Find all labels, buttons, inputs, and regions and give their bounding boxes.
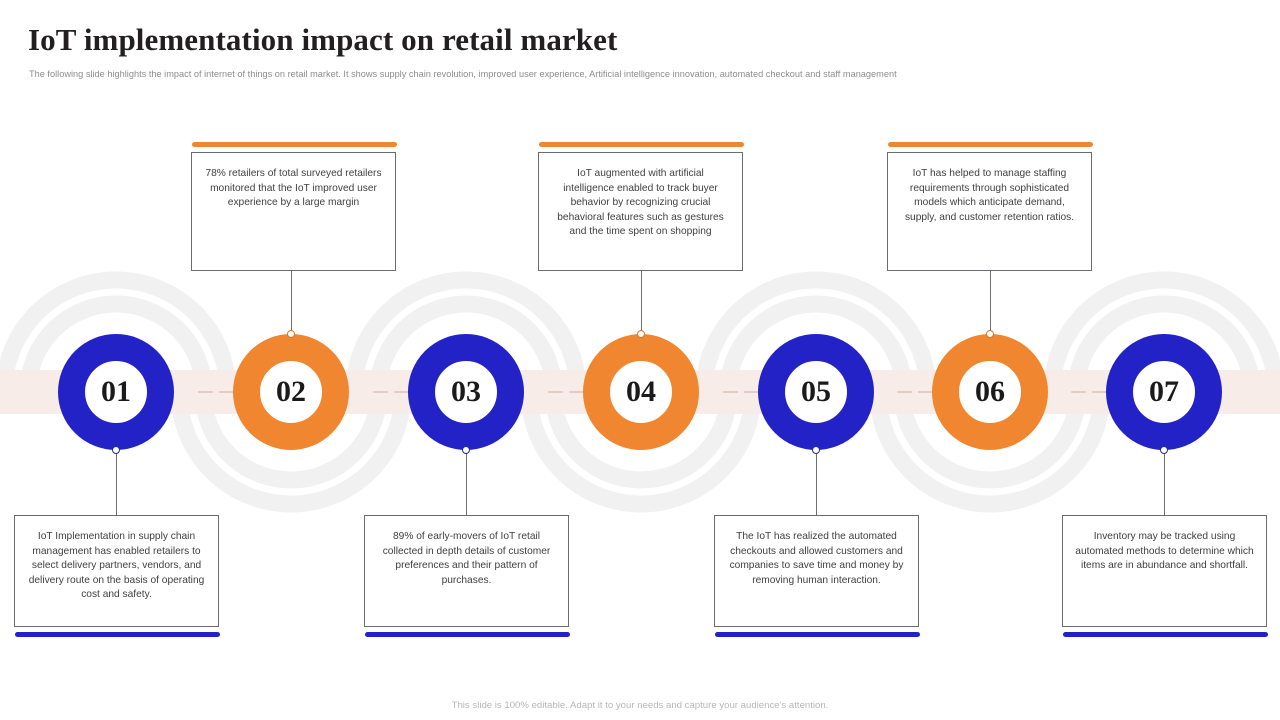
timeline-node-07[interactable]: 07	[1106, 334, 1222, 450]
connector-stem-03	[466, 451, 467, 515]
callout-accent-bar	[539, 142, 744, 147]
footer-note: This slide is 100% editable. Adapt it to…	[0, 700, 1280, 711]
connector-stem-05	[816, 451, 817, 515]
callout-accent-bar	[365, 632, 570, 637]
callout-accent-bar	[715, 632, 920, 637]
callout-top-04[interactable]: IoT augmented with artificial intelligen…	[538, 152, 743, 271]
callout-text: 89% of early-movers of IoT retail collec…	[365, 516, 568, 588]
callout-accent-bar	[192, 142, 397, 147]
timeline-node-02[interactable]: 02	[233, 334, 349, 450]
anchor-dot-05	[812, 446, 820, 454]
timeline-node-06[interactable]: 06	[932, 334, 1048, 450]
timeline-node-04[interactable]: 04	[583, 334, 699, 450]
callout-text: The IoT has realized the automated check…	[715, 516, 918, 588]
callout-accent-bar	[15, 632, 220, 637]
anchor-dot-04	[637, 330, 645, 338]
page-title: IoT implementation impact on retail mark…	[28, 22, 617, 58]
callout-text: IoT augmented with artificial intelligen…	[539, 153, 742, 240]
node-number-03: 03	[451, 377, 481, 407]
connector-stem-07	[1164, 451, 1165, 515]
callout-accent-bar	[1063, 632, 1268, 637]
timeline-node-01[interactable]: 01	[58, 334, 174, 450]
anchor-dot-07	[1160, 446, 1168, 454]
node-number-01: 01	[101, 377, 131, 407]
callout-bottom-07[interactable]: Inventory may be tracked using automated…	[1062, 515, 1267, 627]
callout-accent-bar	[888, 142, 1093, 147]
page-subtitle: The following slide highlights the impac…	[29, 69, 897, 79]
anchor-dot-06	[986, 330, 994, 338]
node-number-02: 02	[276, 377, 306, 407]
callout-top-02[interactable]: 78% retailers of total surveyed retailer…	[191, 152, 396, 271]
callout-top-06[interactable]: IoT has helped to manage staffing requir…	[887, 152, 1092, 271]
anchor-dot-02	[287, 330, 295, 338]
node-number-05: 05	[801, 377, 831, 407]
callout-bottom-05[interactable]: The IoT has realized the automated check…	[714, 515, 919, 627]
callout-bottom-03[interactable]: 89% of early-movers of IoT retail collec…	[364, 515, 569, 627]
timeline-node-05[interactable]: 05	[758, 334, 874, 450]
callout-text: 78% retailers of total surveyed retailer…	[192, 153, 395, 211]
node-number-04: 04	[626, 377, 656, 407]
connector-stem-04	[641, 271, 642, 334]
callout-bottom-01[interactable]: IoT Implementation in supply chain manag…	[14, 515, 219, 627]
callout-text: Inventory may be tracked using automated…	[1063, 516, 1266, 574]
timeline-node-03[interactable]: 03	[408, 334, 524, 450]
connector-stem-01	[116, 451, 117, 515]
callout-text: IoT has helped to manage staffing requir…	[888, 153, 1091, 225]
anchor-dot-01	[112, 446, 120, 454]
connector-stem-06	[990, 271, 991, 334]
anchor-dot-03	[462, 446, 470, 454]
node-number-07: 07	[1149, 377, 1179, 407]
connector-stem-02	[291, 271, 292, 334]
callout-text: IoT Implementation in supply chain manag…	[15, 516, 218, 603]
node-number-06: 06	[975, 377, 1005, 407]
